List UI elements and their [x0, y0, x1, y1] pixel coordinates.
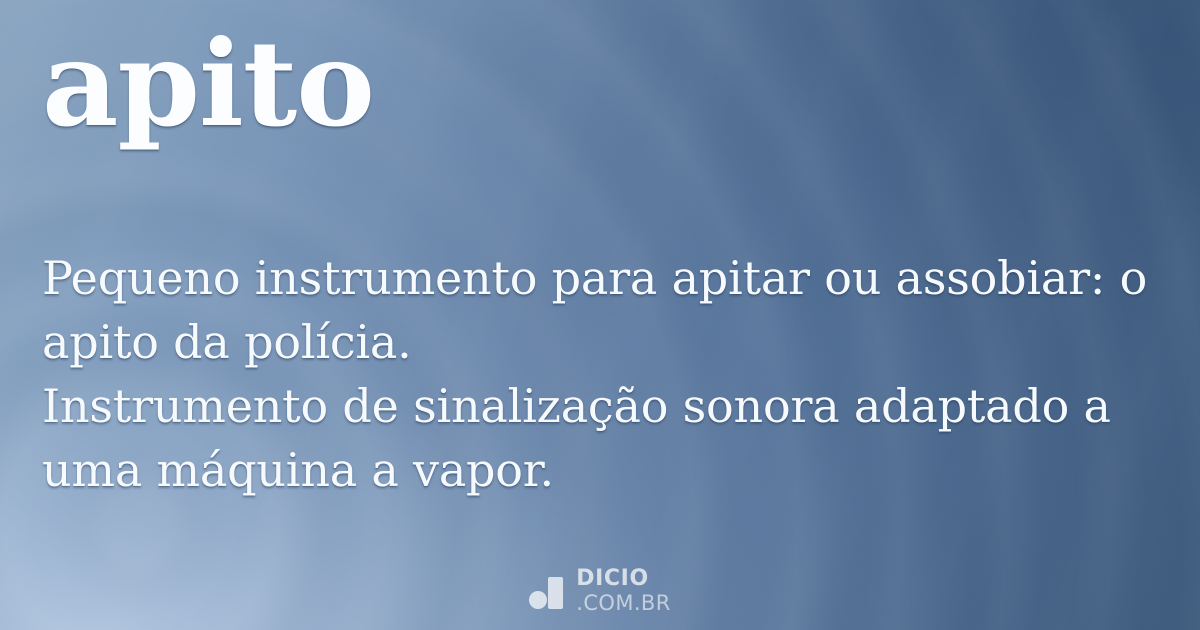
card-content: apito Pequeno instrumento para apitar ou…	[0, 0, 1200, 630]
logo-mark	[529, 573, 563, 609]
definition-item: Instrumento de sinalização sonora adapta…	[42, 374, 1160, 502]
circle-icon	[529, 591, 547, 609]
definition-item: Pequeno instrumento para apitar ou assob…	[42, 246, 1160, 374]
bar-icon	[548, 577, 563, 609]
dictionary-social-card: apito Pequeno instrumento para apitar ou…	[0, 0, 1200, 630]
headword-title: apito	[42, 18, 374, 150]
definition-list: Pequeno instrumento para apitar ou assob…	[42, 246, 1160, 502]
logo-name: DICIO	[576, 568, 648, 590]
logo-tld: .COM.BR	[576, 593, 670, 614]
logo-wordmark: DICIO .COM.BR	[576, 568, 670, 614]
dicio-logo: DICIO .COM.BR	[0, 568, 1200, 614]
